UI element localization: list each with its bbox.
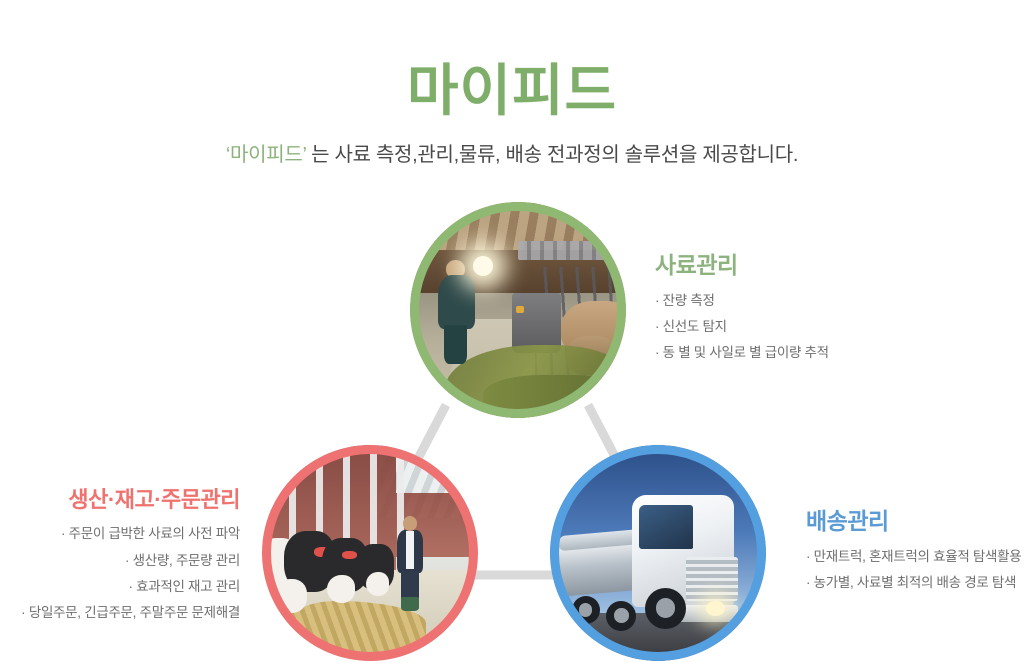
label-delivery-bullet-2: · 농가별, 사료별 최적의 배송 경로 탐색	[806, 570, 1021, 596]
label-production-management: 생산·재고·주문관리 · 주문이 급박한 사료의 사전 파악 · 생산량, 주문…	[0, 487, 240, 627]
label-delivery-bullets: · 만재트럭, 혼재트럭의 효율적 탐색활용 · 농가별, 사료별 최적의 배송…	[806, 544, 1021, 597]
delivery-truck-photo	[550, 445, 766, 661]
label-production-heading: 생산·재고·주문관리	[0, 487, 240, 513]
label-feed-bullet-2: · 신선도 탐지	[655, 314, 829, 340]
label-delivery-heading: 배송관리	[806, 508, 1021, 536]
label-delivery-management: 배송관리 · 만재트럭, 혼재트럭의 효율적 탐색활용 · 농가별, 사료별 최…	[806, 508, 1021, 596]
feed-barn-photo	[410, 202, 626, 418]
cow-feeding-photo	[262, 445, 478, 661]
label-feed-management: 사료관리 · 잔량 측정 · 신선도 탐지 · 동 별 및 사일로 별 급이량 …	[655, 252, 829, 367]
node-delivery-management[interactable]	[550, 445, 766, 661]
node-production-management[interactable]	[262, 445, 478, 661]
label-feed-heading: 사료관리	[655, 252, 829, 280]
label-feed-bullet-3: · 동 별 및 사일로 별 급이량 추적	[655, 340, 829, 366]
label-production-bullet-4: · 당일주문, 긴급주문, 주말주문 문제해결	[0, 600, 240, 626]
label-feed-bullet-1: · 잔량 측정	[655, 288, 829, 314]
label-production-bullet-2: · 생산량, 주문량 관리	[0, 548, 240, 574]
label-production-bullet-1: · 주문이 급박한 사료의 사전 파악	[0, 521, 240, 547]
label-production-bullets: · 주문이 급박한 사료의 사전 파악 · 생산량, 주문량 관리 · 효과적인…	[0, 521, 240, 626]
node-feed-management[interactable]	[410, 202, 626, 418]
label-production-bullet-3: · 효과적인 재고 관리	[0, 574, 240, 600]
label-delivery-bullet-1: · 만재트럭, 혼재트럭의 효율적 탐색활용	[806, 544, 1021, 570]
label-feed-bullets: · 잔량 측정 · 신선도 탐지 · 동 별 및 사일로 별 급이량 추적	[655, 288, 829, 367]
